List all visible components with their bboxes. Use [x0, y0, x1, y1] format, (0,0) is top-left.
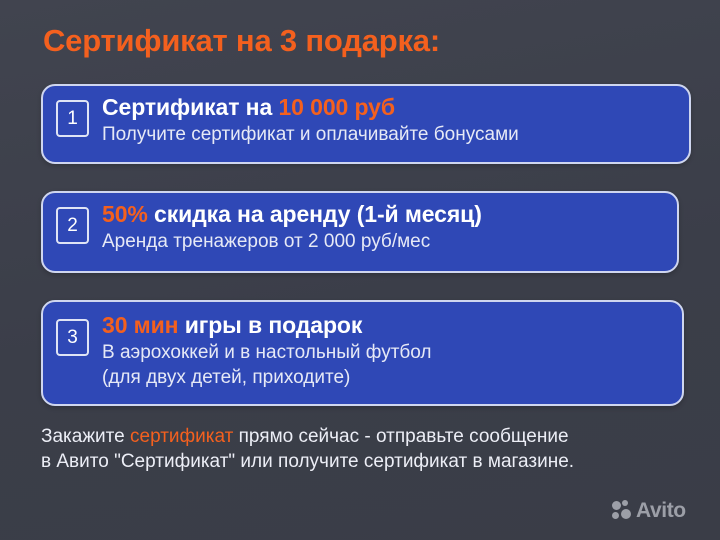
avito-wordmark: Avito	[636, 500, 686, 521]
offer-card-2-heading: 50% скидка на аренду (1-й месяц)	[102, 202, 677, 228]
offer-card-2-subtitle: Аренда тренажеров от 2 000 руб/мес	[102, 230, 677, 253]
offer-card-3-heading-text: игры в подарок	[178, 312, 362, 338]
footer-note-line-1-b: прямо сейчас - отправьте сообщение	[233, 426, 568, 447]
offer-card-3[interactable]: 3 30 мин игры в подарок В аэрохоккей и в…	[41, 300, 684, 406]
offer-number-badge: 2	[56, 207, 89, 244]
offer-number-badge: 1	[56, 100, 89, 137]
offer-card-2-body: 50% скидка на аренду (1-й месяц) Аренда …	[102, 193, 677, 253]
footer-note-highlight: сертификат	[130, 426, 233, 447]
footer-note-line-2: в Авито "Сертификат" или получите сертиф…	[41, 449, 701, 474]
offer-card-1-heading-highlight: 10 000 руб	[278, 94, 394, 120]
offer-card-1-body: Сертификат на 10 000 руб Получите сертиф…	[102, 86, 689, 146]
offer-number-badge: 3	[56, 319, 89, 356]
offer-card-3-heading-highlight: 30 мин	[102, 312, 178, 338]
offer-card-2-heading-highlight: 50%	[102, 201, 148, 227]
page-title: Сертификат на 3 подарка:	[43, 23, 440, 59]
offer-card-1-heading-text: Сертификат на	[102, 94, 278, 120]
offer-card-3-subtitle-line-2: (для двух детей, приходите)	[102, 366, 682, 389]
footer-note-line-1: Закажите сертификат прямо сейчас - отпра…	[41, 424, 701, 449]
offer-card-2[interactable]: 2 50% скидка на аренду (1-й месяц) Аренд…	[41, 191, 679, 273]
offer-card-2-heading-text: скидка на аренду (1-й месяц)	[148, 201, 482, 227]
promo-banner: Сертификат на 3 подарка: 1 Сертификат на…	[0, 0, 720, 540]
offer-card-3-body: 30 мин игры в подарок В аэрохоккей и в н…	[102, 302, 682, 389]
offer-card-1-subtitle: Получите сертификат и оплачивайте бонуса…	[102, 123, 689, 146]
avito-dots-icon	[612, 500, 633, 521]
offer-card-1[interactable]: 1 Сертификат на 10 000 руб Получите серт…	[41, 84, 691, 164]
footer-note: Закажите сертификат прямо сейчас - отпра…	[41, 424, 701, 475]
footer-note-line-1-a: Закажите	[41, 426, 130, 447]
offer-card-3-subtitle-line-1: В аэрохоккей и в настольный футбол	[102, 341, 682, 364]
offer-card-3-heading: 30 мин игры в подарок	[102, 313, 682, 339]
avito-watermark: Avito	[612, 500, 686, 521]
offer-card-1-heading: Сертификат на 10 000 руб	[102, 95, 689, 121]
